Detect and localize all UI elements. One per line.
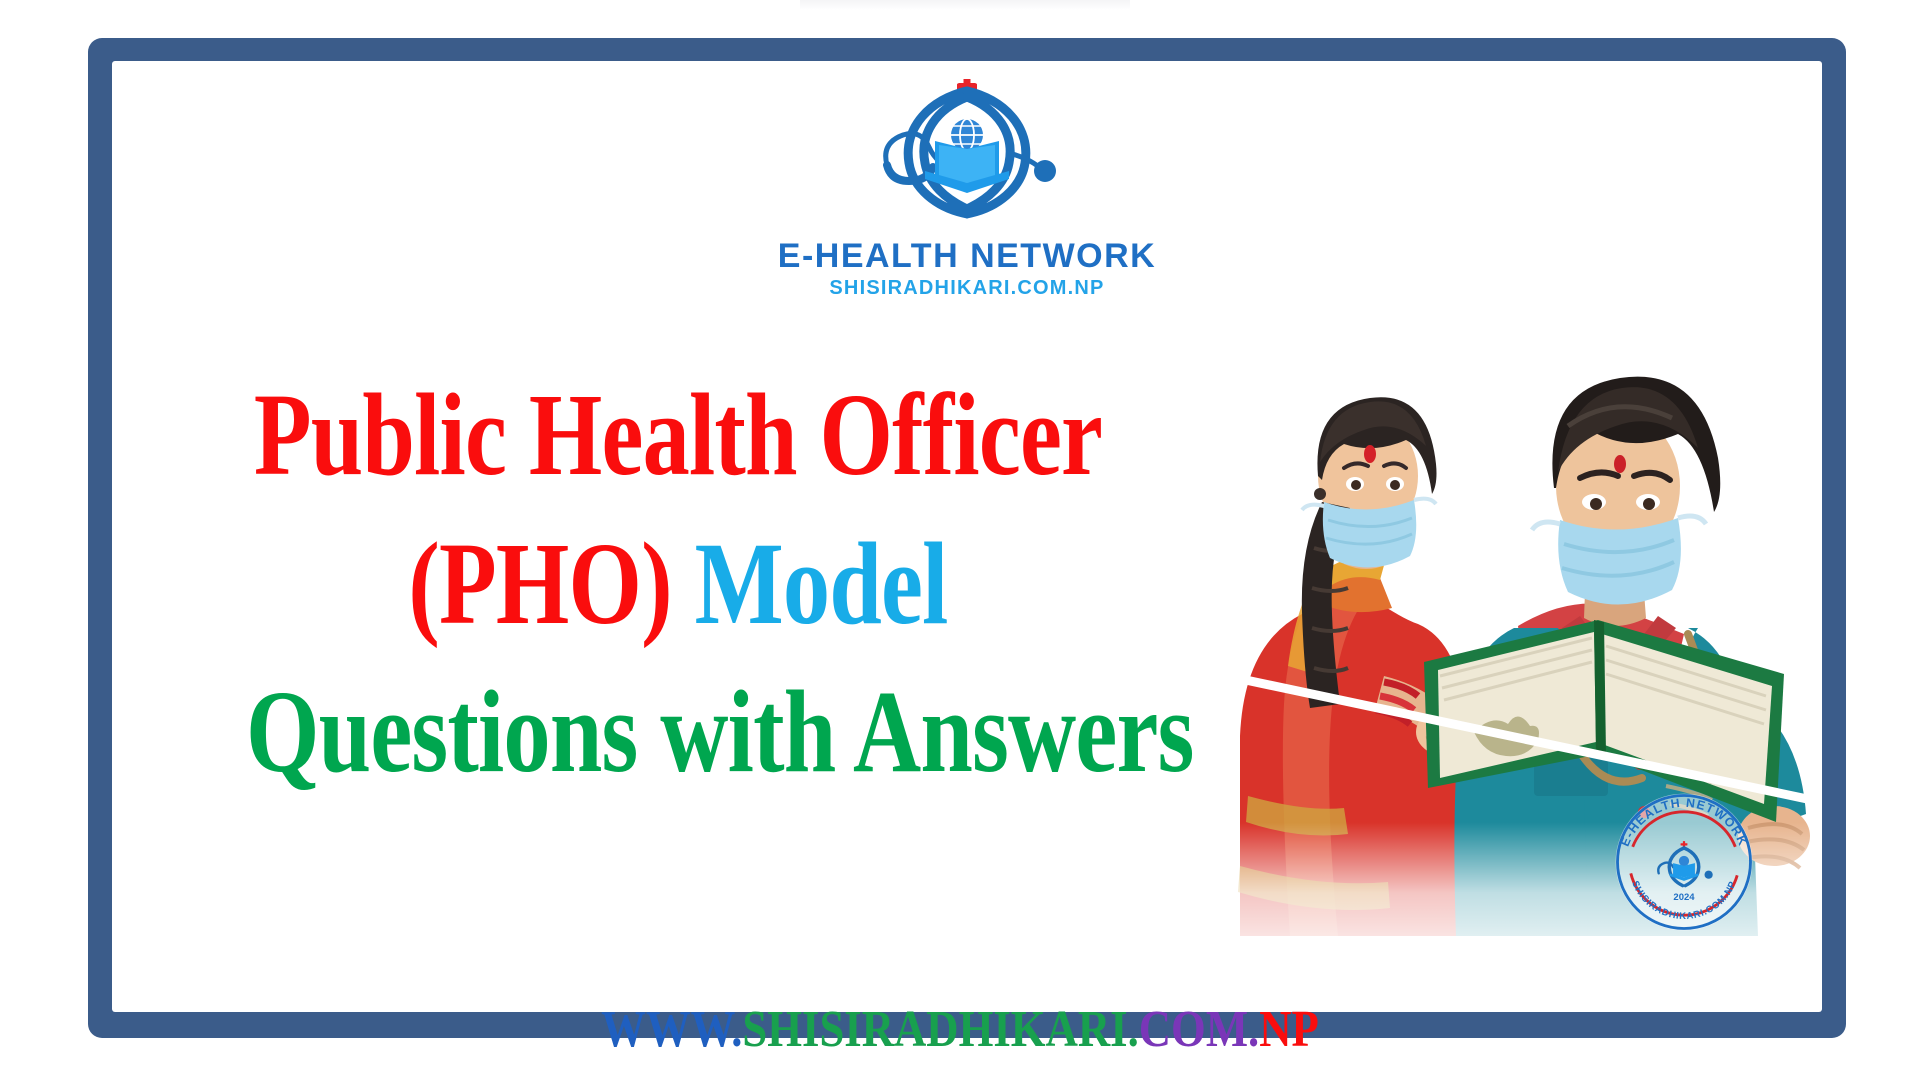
watermark-badge: E-HEALTH NETWORK SHISIRADHIKARI.COM.NP 2… [1608, 786, 1760, 938]
top-gradient-band [800, 0, 1130, 10]
page-title: Public Health Officer (PHO) Model Questi… [246, 361, 1110, 807]
footer-url-com: COM [1139, 1001, 1248, 1058]
badge-year: 2024 [1673, 892, 1695, 903]
title-line-2: (PHO) Model [246, 510, 1110, 659]
footer-url-www: WWW. [601, 1001, 742, 1058]
footer-url-dot-2: . [1248, 1001, 1259, 1058]
title-line-2-pho: (PHO) [408, 518, 671, 649]
e-health-network-logo-icon [863, 79, 1071, 239]
brand-logo-block: E-HEALTH NETWORK SHISIRADHIKARI.COM.NP [112, 79, 1822, 300]
logo-brand-url: SHISIRADHIKARI.COM.NP [829, 277, 1104, 300]
poster-frame: E-HEALTH NETWORK SHISIRADHIKARI.COM.NP P… [88, 38, 1846, 1038]
id-badge [1674, 682, 1760, 726]
footer-url-np: NP [1259, 1001, 1319, 1058]
title-line-1: Public Health Officer [246, 361, 1110, 510]
poster-inner-panel: E-HEALTH NETWORK SHISIRADHIKARI.COM.NP P… [112, 61, 1822, 1012]
title-line-3: Questions with Answers [246, 658, 1110, 807]
poster-canvas: E-HEALTH NETWORK SHISIRADHIKARI.COM.NP P… [0, 0, 1920, 1080]
footer-website-url[interactable]: WWW.SHISIRADHIKARI.COM.NP [134, 1000, 1785, 1059]
title-line-2-model: Model [695, 518, 948, 649]
footer-url-domain: SHISIRADHIKARI [742, 1001, 1127, 1058]
logo-brand-name: E-HEALTH NETWORK [778, 237, 1156, 276]
footer-url-dot-1: . [1128, 1001, 1139, 1058]
